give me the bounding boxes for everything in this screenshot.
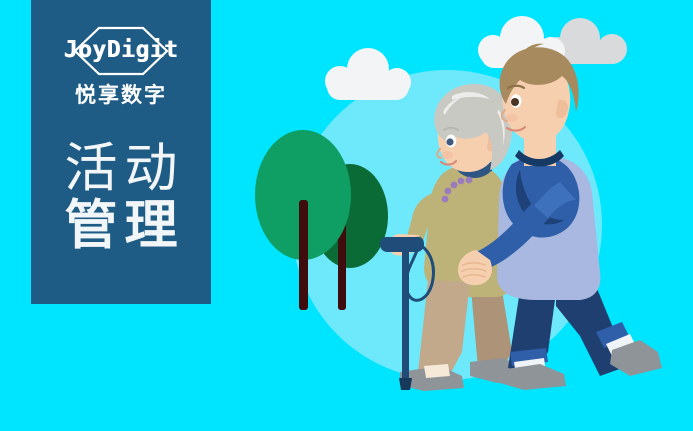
page-title-line1: 活动 [31,140,211,197]
page-title: 活动 管理 [31,140,211,254]
youth-cheek [506,114,518,122]
cane-ferrule [399,378,412,390]
logo-subtitle-cn: 悦享数字 [31,83,211,109]
logo-hexagon-wrap: JoyDigit [31,26,211,76]
elder-pupil [446,138,453,145]
cloud-left [325,48,411,100]
elder-sock-front [424,364,450,378]
logo-wordmark: JoyDigit [31,37,211,63]
page-title-line2: 管理 [31,197,211,254]
banner-canvas: JoyDigit 悦享数字 活动 管理 [0,0,693,431]
elder-cheek [441,151,453,159]
youth-pupil [511,98,519,106]
left-title-panel: JoyDigit 悦享数字 活动 管理 [31,0,211,304]
brand-logo: JoyDigit 悦享数字 [31,26,211,109]
